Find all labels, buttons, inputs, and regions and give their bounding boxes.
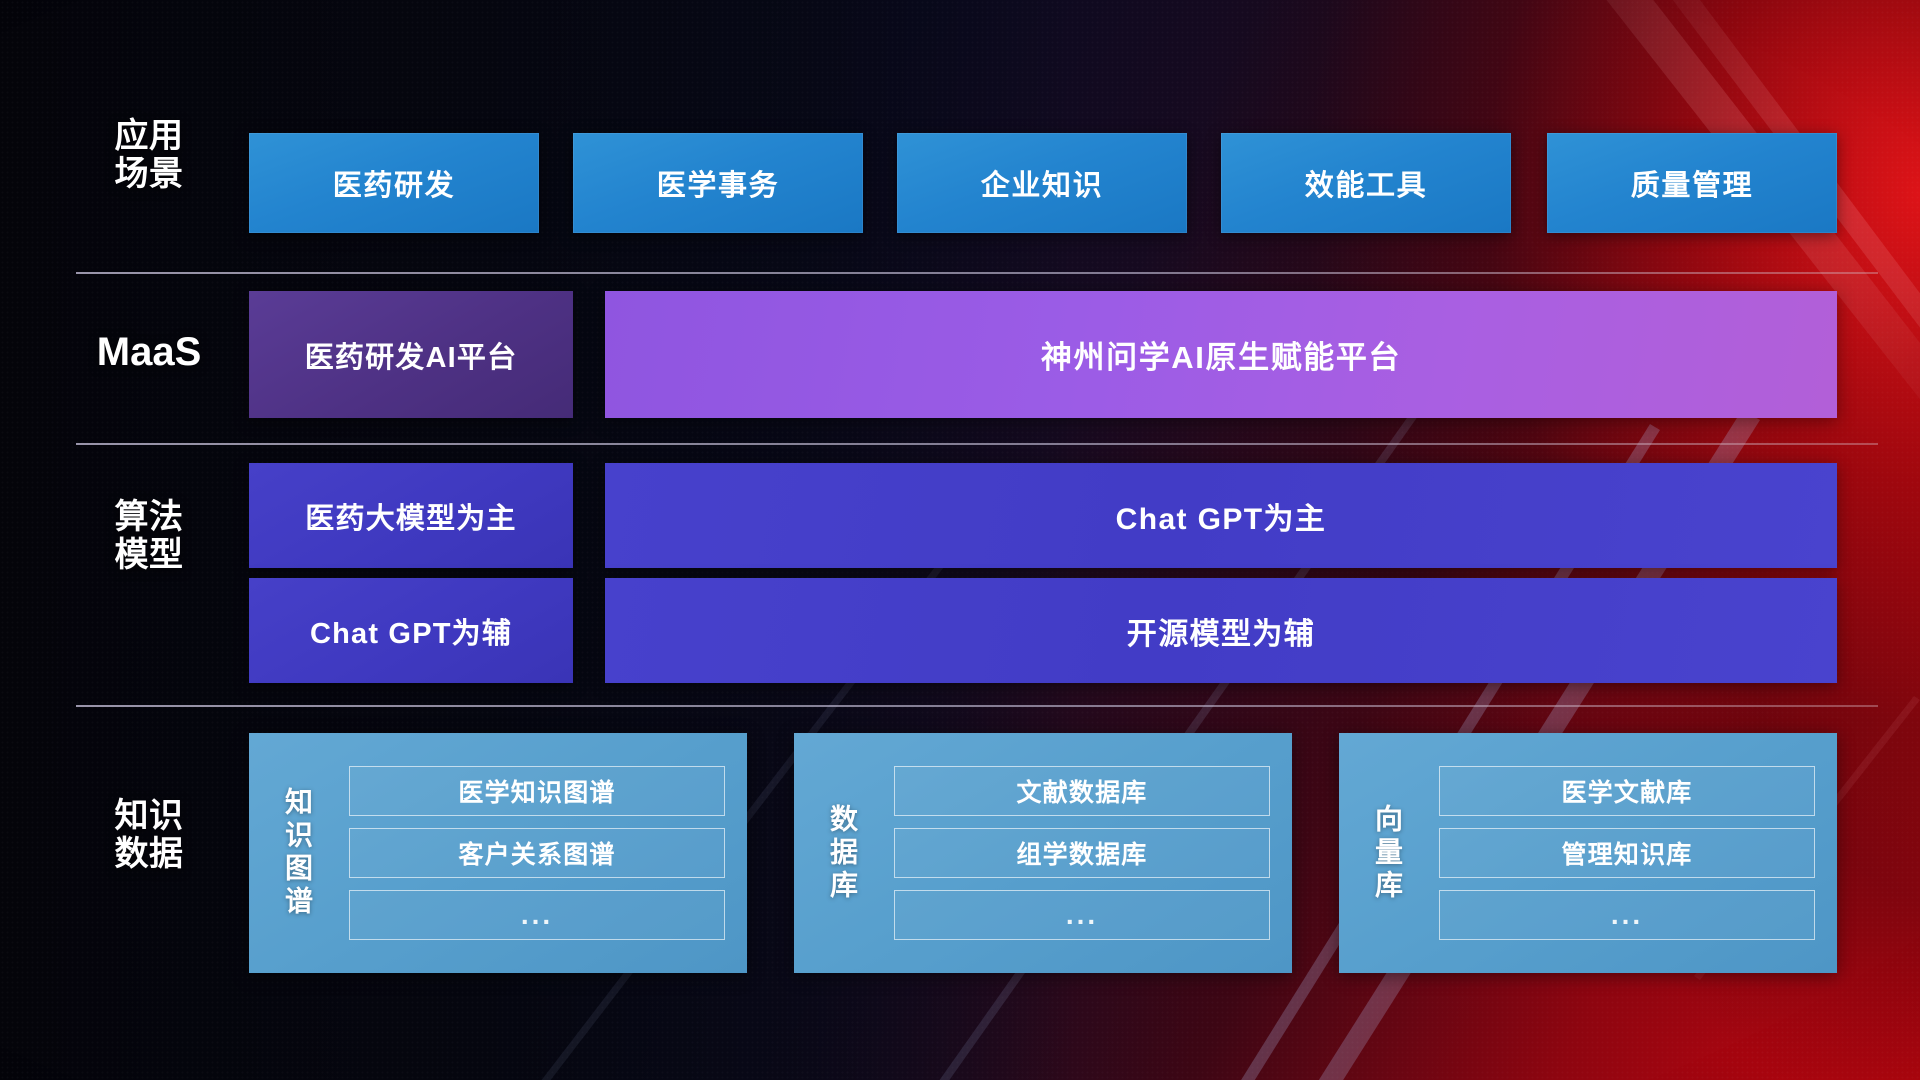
knowledge-item-more[interactable]: ... (894, 890, 1270, 940)
app-box-label: 效能工具 (1305, 162, 1427, 204)
maas-platform-label: 神州问学AI原生赋能平台 (1041, 332, 1401, 377)
knowledge-group-vertical-label: 数据库 (794, 733, 890, 973)
knowledge-group-vertical-label: 向量库 (1339, 733, 1435, 973)
knowledge-item-more[interactable]: ... (349, 890, 725, 940)
algo-box-label: 医药大模型为主 (305, 495, 516, 537)
knowledge-group-item-list: 医学文献库 管理知识库 ... (1435, 766, 1837, 940)
row-label-line: 应用 (84, 117, 214, 155)
divider-3 (76, 705, 1878, 707)
algo-box-chatgpt-primary[interactable]: Chat GPT为主 (605, 463, 1837, 568)
algo-box-label: Chat GPT为辅 (310, 610, 512, 652)
app-box-medical-rd[interactable]: 医药研发 (249, 133, 539, 233)
knowledge-group-database: 数据库 文献数据库 组学数据库 ... (794, 733, 1292, 973)
knowledge-group-item-list: 文献数据库 组学数据库 ... (890, 766, 1292, 940)
row-label-line: 模型 (84, 536, 214, 574)
app-box-quality-management[interactable]: 质量管理 (1547, 133, 1837, 233)
row-label-line: MaaS (84, 330, 214, 375)
app-box-enterprise-knowledge[interactable]: 企业知识 (897, 133, 1187, 233)
app-box-label: 医药研发 (333, 162, 455, 204)
knowledge-item-more[interactable]: ... (1439, 890, 1815, 940)
architecture-diagram: 应用 场景 医药研发 医学事务 企业知识 效能工具 质量管理 MaaS 医药研发… (0, 0, 1920, 1080)
row-label-maas: MaaS (84, 330, 214, 375)
app-box-efficiency-tools[interactable]: 效能工具 (1221, 133, 1511, 233)
algo-box-label: 开源模型为辅 (1127, 609, 1315, 653)
row-label-application-scenarios: 应用 场景 (84, 117, 214, 193)
app-box-medical-affairs[interactable]: 医学事务 (573, 133, 863, 233)
algo-box-chatgpt-secondary[interactable]: Chat GPT为辅 (249, 578, 573, 683)
divider-1 (76, 272, 1878, 274)
knowledge-item[interactable]: 医学知识图谱 (349, 766, 725, 816)
algo-box-label: Chat GPT为主 (1116, 494, 1327, 538)
knowledge-item[interactable]: 管理知识库 (1439, 828, 1815, 878)
knowledge-group-knowledge-graph: 知识图谱 医学知识图谱 客户关系图谱 ... (249, 733, 747, 973)
maas-platform-label: 医药研发AI平台 (305, 334, 518, 376)
knowledge-group-item-list: 医学知识图谱 客户关系图谱 ... (345, 766, 747, 940)
row-label-line: 场景 (84, 155, 214, 193)
row-label-line: 算法 (84, 498, 214, 536)
algo-box-opensource-secondary[interactable]: 开源模型为辅 (605, 578, 1837, 683)
row-label-line: 数据 (84, 835, 214, 873)
knowledge-group-vector-database: 向量库 医学文献库 管理知识库 ... (1339, 733, 1837, 973)
maas-platform-shenzhou-wenxue[interactable]: 神州问学AI原生赋能平台 (605, 291, 1837, 418)
app-box-label: 企业知识 (981, 162, 1103, 204)
divider-2 (76, 443, 1878, 445)
algo-box-medical-large-model-primary[interactable]: 医药大模型为主 (249, 463, 573, 568)
knowledge-item[interactable]: 文献数据库 (894, 766, 1270, 816)
maas-platform-medical-rd[interactable]: 医药研发AI平台 (249, 291, 573, 418)
knowledge-group-vertical-label: 知识图谱 (249, 733, 345, 973)
row-label-line: 知识 (84, 797, 214, 835)
knowledge-item[interactable]: 医学文献库 (1439, 766, 1815, 816)
app-box-label: 医学事务 (657, 162, 779, 204)
row-label-algorithm-models: 算法 模型 (84, 498, 214, 574)
knowledge-item[interactable]: 组学数据库 (894, 828, 1270, 878)
row-label-knowledge-data: 知识 数据 (84, 797, 214, 873)
knowledge-item[interactable]: 客户关系图谱 (349, 828, 725, 878)
app-box-label: 质量管理 (1631, 162, 1753, 204)
